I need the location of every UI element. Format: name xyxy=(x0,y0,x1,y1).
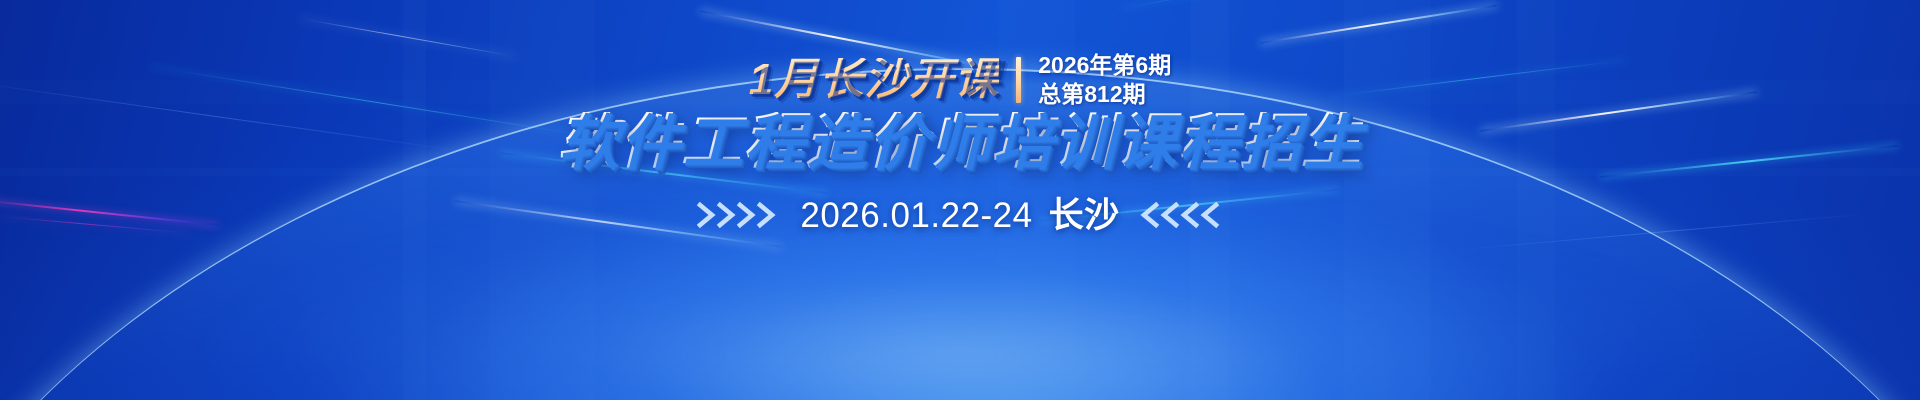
schedule-text: 2026.01.22-24长沙 xyxy=(800,198,1119,233)
session-total: 总第812期 xyxy=(1038,81,1171,108)
session-meta: 2026年第6期 总第812期 xyxy=(1038,52,1171,107)
chevron-right-group-icon xyxy=(696,200,782,230)
kicker-row: 1月长沙开课 2026年第6期 总第812期 xyxy=(749,52,1171,108)
page-title: 软件工程造价师培训课程招生 xyxy=(557,112,1363,172)
session-term: 2026年第6期 xyxy=(1038,52,1171,79)
schedule-dates: 2026.01.22-24 xyxy=(800,196,1032,235)
banner-content: 1月长沙开课 2026年第6期 总第812期 软件工程造价师培训课程招生 xyxy=(0,0,1920,400)
schedule-city: 长沙 xyxy=(1049,196,1120,235)
event-banner: 1月长沙开课 2026年第6期 总第812期 软件工程造价师培训课程招生 xyxy=(0,0,1920,400)
chevron-left-group-icon xyxy=(1138,200,1224,230)
kicker-text: 1月长沙开课 xyxy=(749,58,999,102)
kicker-divider xyxy=(1016,57,1021,103)
schedule-row: 2026.01.22-24长沙 xyxy=(696,194,1223,236)
